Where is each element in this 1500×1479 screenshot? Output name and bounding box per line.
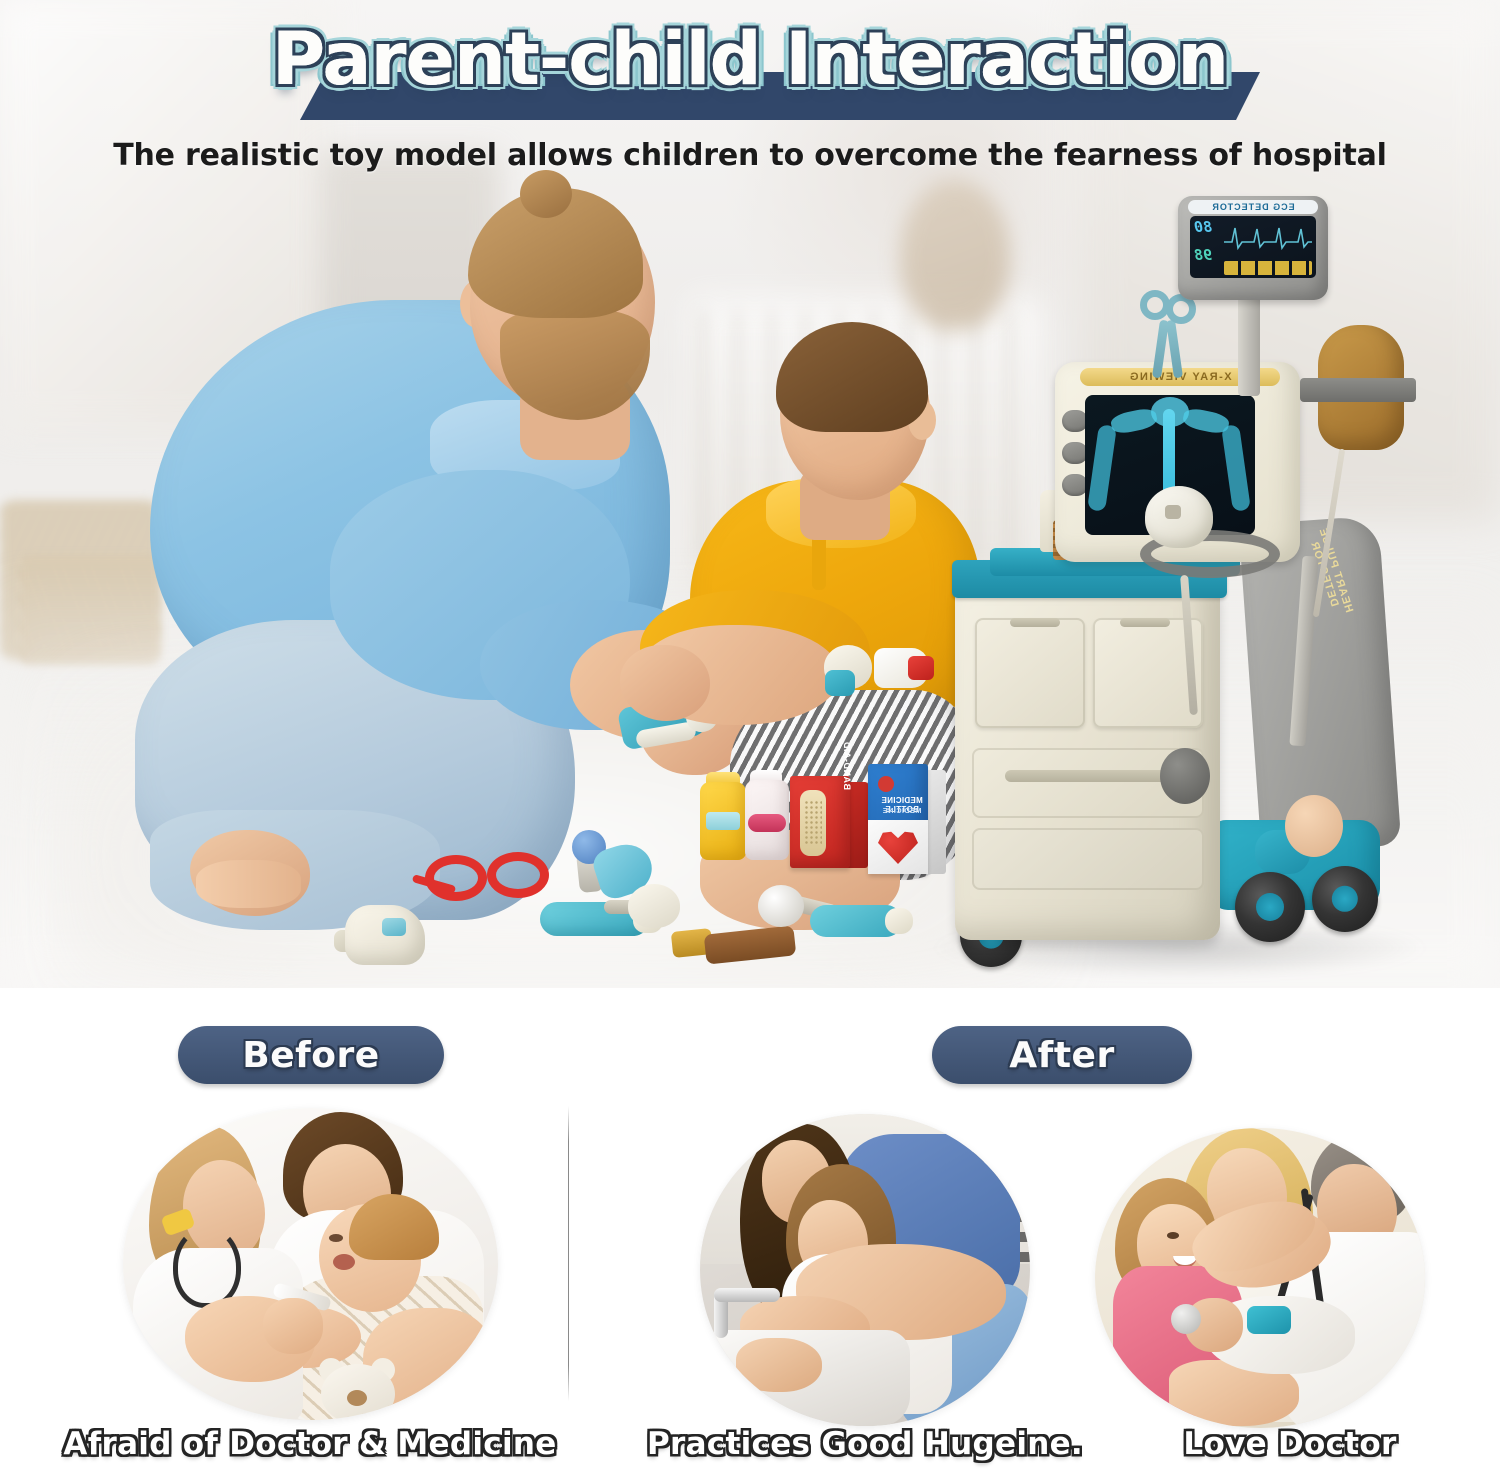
hero-banner: HEART PULSE DETECTOR MEDICAL LOCKER X-RA… (0, 0, 1500, 988)
page-subtitle: The realistic toy model allows children … (0, 138, 1500, 173)
father-hair-bun (520, 170, 572, 218)
ecg-reading-bottom: 98 (1194, 246, 1212, 264)
locker-door-left (975, 618, 1085, 728)
toy-hammer-head (628, 884, 680, 928)
photo-after-handwashing (700, 1114, 1030, 1426)
toy-glasses-right-lens (487, 852, 549, 898)
medicine-box-label-line-two: MEDICINE (874, 806, 930, 815)
background-teddy-bear (900, 180, 1010, 330)
photo-before-injection (123, 1108, 498, 1420)
section-divider (568, 1106, 569, 1401)
toy-iv-strap (1300, 378, 1416, 402)
toy-teal-handle (825, 670, 855, 696)
locker-handle-left (1010, 618, 1060, 627)
boy-hand (620, 645, 710, 721)
badge-before-label: Before (242, 1035, 379, 1076)
ecg-reading-top: 80 (1194, 218, 1212, 236)
locker-handle-right (1120, 618, 1170, 627)
badge-before: Before (178, 1026, 444, 1084)
badge-after-label: After (1009, 1035, 1114, 1076)
toy-white-bottle-label (748, 814, 786, 832)
ecg-waveform-icon (1224, 222, 1312, 250)
toy-bulb (1160, 748, 1210, 804)
bandaid-box-label: BAND-AID (842, 720, 852, 790)
toy-figure-head (1285, 795, 1343, 857)
caption-after-love-doctor: Love Doctor (1120, 1426, 1460, 1462)
bandaid-strip-holes (804, 800, 822, 846)
toy-drill-window (382, 918, 406, 936)
cart-wheel-right (1312, 866, 1378, 932)
toy-stethoscope-detail (1165, 505, 1181, 519)
ecg-mount-pole (1238, 296, 1260, 396)
locker-drawer-slot (1005, 770, 1170, 782)
ecg-screen: 80 98 (1190, 216, 1316, 278)
comparison-section: Before After (0, 988, 1500, 1479)
toy-scissors-icon (1140, 290, 1202, 382)
badge-after: After (932, 1026, 1192, 1084)
cart-wheel-middle (1235, 872, 1305, 942)
locker-drawer-lower (972, 828, 1204, 890)
caption-after-hygiene: Practices Good Hugeine. (595, 1426, 1135, 1462)
toy-mirror-head (758, 885, 804, 927)
father-toes (196, 860, 301, 908)
toy-glasses-left-lens (425, 855, 487, 901)
ecg-detector-label: ECG DETECTOR (1188, 200, 1318, 214)
page-title: Parent-child Interaction (0, 22, 1500, 99)
toy-yellow-bottle-label (706, 812, 740, 830)
toy-teal-instrument-two-tip (885, 908, 913, 934)
caption-before: Afraid of Doctor & Medicine (30, 1426, 590, 1462)
medicine-box-badge-icon (878, 776, 894, 792)
toy-thermometer-tip (908, 656, 934, 680)
photo-after-checkup (1095, 1128, 1425, 1428)
